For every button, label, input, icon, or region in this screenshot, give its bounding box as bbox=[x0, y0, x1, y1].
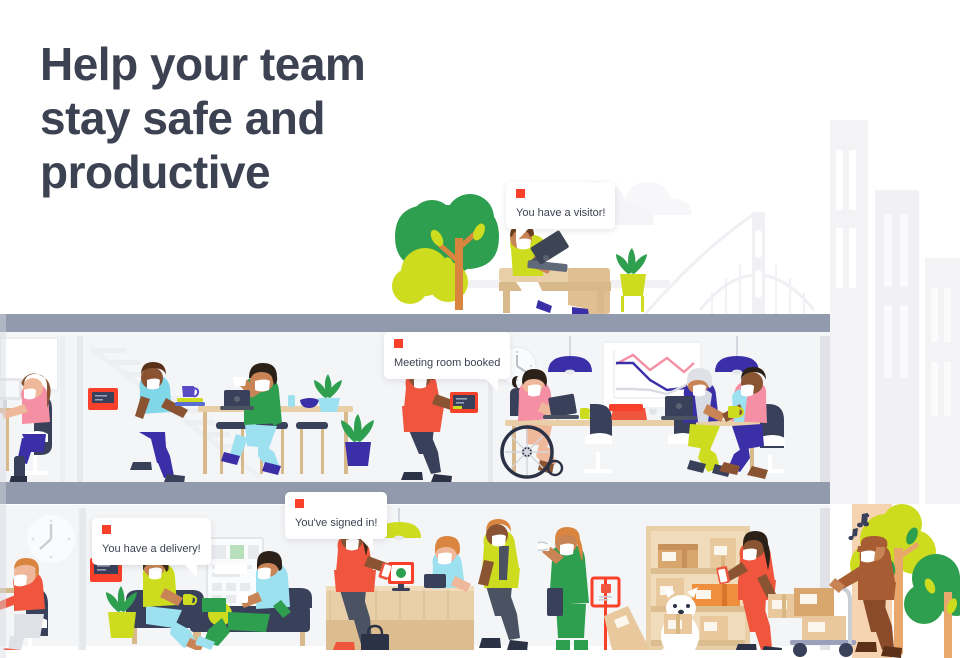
red-square-icon bbox=[102, 525, 111, 534]
red-square-icon bbox=[394, 339, 403, 348]
bubble-tail bbox=[485, 378, 498, 392]
bubble-tail bbox=[360, 538, 373, 552]
notification-text: Meeting room booked bbox=[394, 357, 500, 369]
tablet-device bbox=[450, 392, 478, 413]
floor-slab-lower bbox=[0, 482, 830, 504]
wall-clock-icon bbox=[27, 515, 75, 563]
wall-access-panel bbox=[88, 388, 118, 410]
notification-bubble-delivery: You have a delivery! bbox=[92, 518, 211, 565]
notification-text: You've signed in! bbox=[295, 517, 377, 529]
desk-device bbox=[609, 404, 647, 420]
red-square-icon bbox=[516, 189, 525, 198]
page-title: Help your team stay safe and productive bbox=[40, 38, 470, 199]
bubble-tail bbox=[516, 228, 529, 242]
bubble-tail bbox=[184, 564, 197, 578]
red-square-icon bbox=[295, 499, 304, 508]
laptop-icon bbox=[220, 390, 254, 410]
floor-slab-upper bbox=[0, 314, 830, 332]
illustration-hero: Help your team stay safe and productive … bbox=[0, 0, 960, 658]
notification-text: You have a visitor! bbox=[516, 207, 605, 219]
notification-text: You have a delivery! bbox=[102, 543, 201, 555]
notification-bubble-visitor: You have a visitor! bbox=[506, 182, 615, 229]
notification-bubble-meeting: Meeting room booked bbox=[384, 332, 510, 379]
notification-bubble-signed-in: You've signed in! bbox=[285, 492, 387, 539]
